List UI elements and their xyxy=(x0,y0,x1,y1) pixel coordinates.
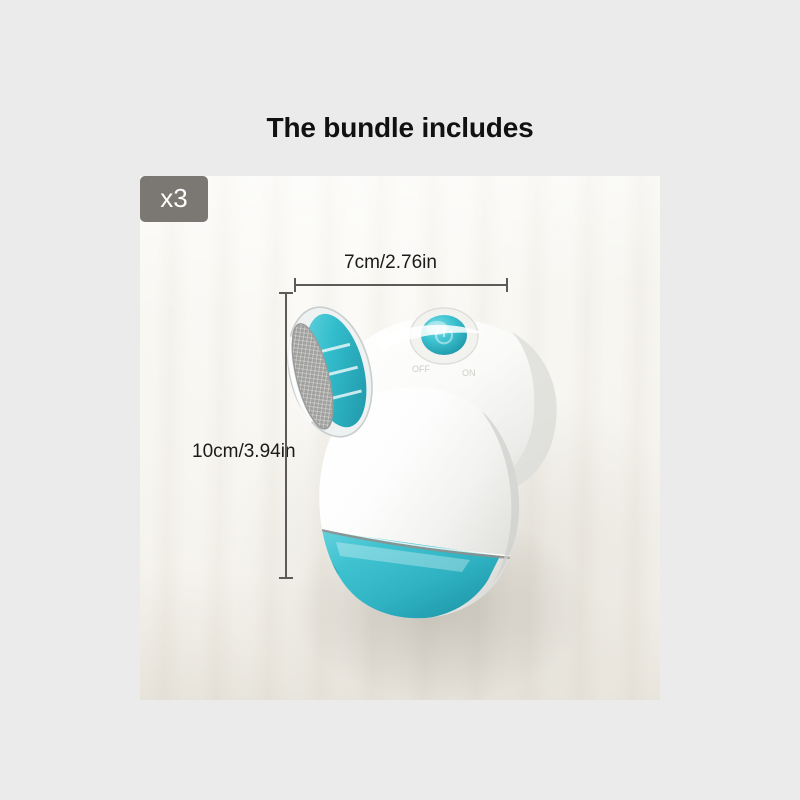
page-title: The bundle includes xyxy=(0,108,800,148)
dimension-width-label: 7cm/2.76in xyxy=(344,252,437,274)
dimension-height-label: 10cm/3.94in xyxy=(192,441,296,463)
dimension-width-line xyxy=(294,284,508,286)
quantity-badge: x3 xyxy=(140,176,208,222)
dimension-height-line xyxy=(285,292,287,579)
